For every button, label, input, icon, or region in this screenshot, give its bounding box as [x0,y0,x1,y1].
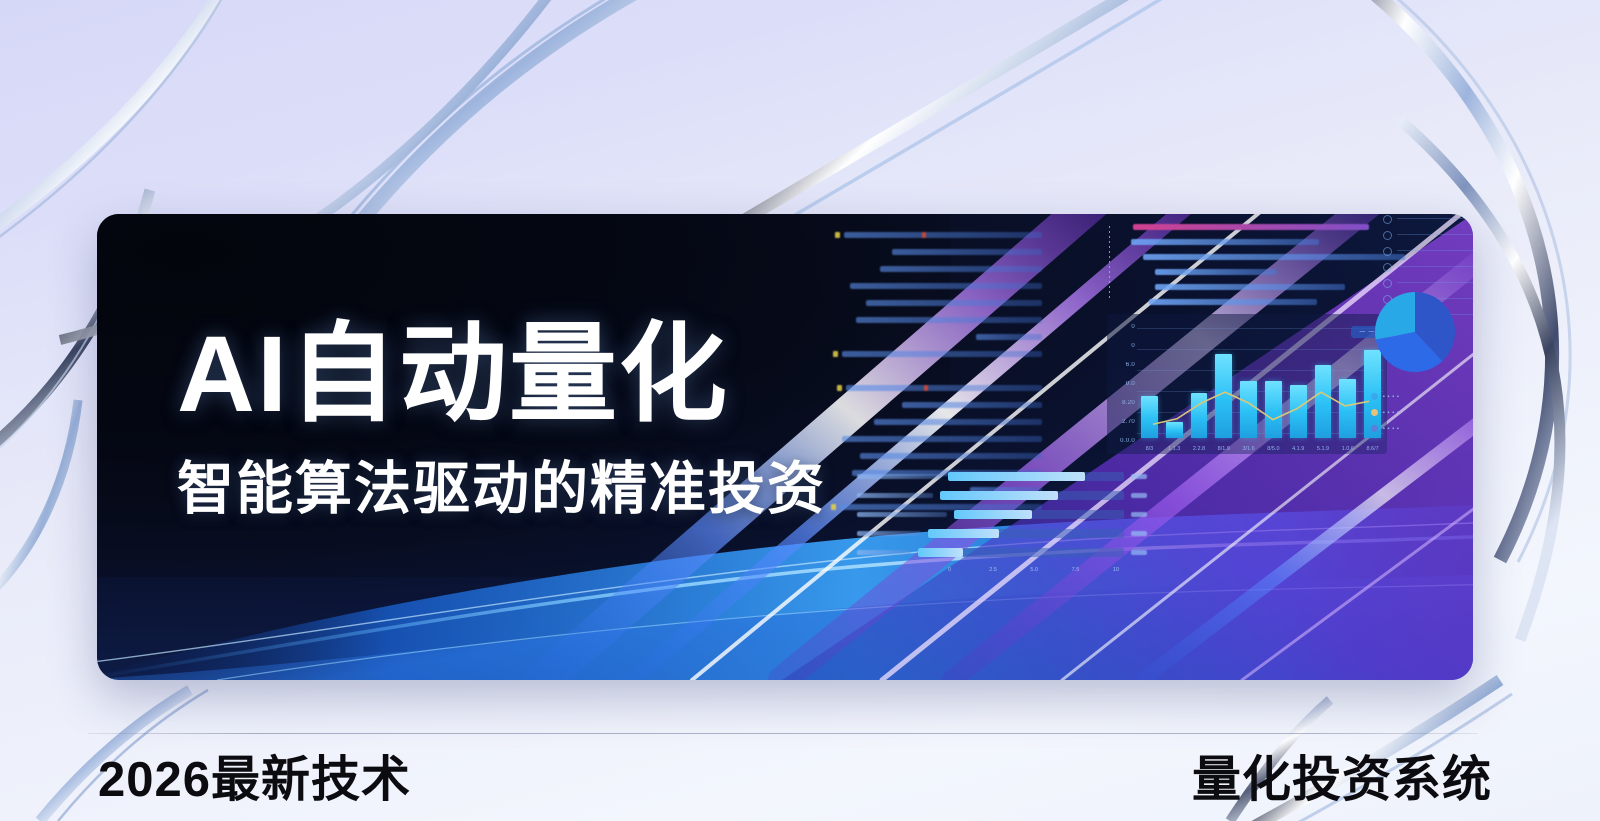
hbar-label [857,493,933,498]
hbar-track [948,472,1124,481]
hbar-axis-tick: 0 [948,567,982,573]
log-line [866,300,1042,306]
legend-item: ▪ ▪ ▪ ▪ [1371,393,1400,400]
footer-left-label: 2026最新技术 [98,744,411,816]
chart-y-axis: 006.00.08.202.700.0.0 [1109,314,1135,454]
hbar-value [1131,493,1147,498]
y-tick-label: 0.0.0 [1120,438,1135,444]
log-line [874,419,1042,425]
hbar-label [857,531,921,536]
legend-label: ▪ ▪ ▪ ▪ [1383,394,1400,400]
log-line [844,232,1042,238]
y-tick-label: 0.0 [1126,381,1135,387]
x-tick-label: 3/1.6 [1240,446,1257,452]
log-line [846,385,1042,391]
pie-chart [1369,286,1461,383]
hbar-track [928,529,1124,538]
side-panel-row [1397,250,1473,251]
pie-legend: ▪ ▪ ▪ ▪▪ ▪ ▪ ▪▪ ▪ ▪ ▪ [1371,393,1400,441]
code-line [1155,284,1345,290]
code-line [1155,269,1277,275]
code-line [1149,299,1317,305]
log-line [842,351,1042,357]
footer-right-label: 量化投资系统 [1192,744,1492,816]
x-tick-label: 8/5.0 [1265,446,1282,452]
hbar-value [1131,512,1147,517]
legend-label: ▪ ▪ ▪ ▪ [1383,426,1400,432]
hbar-fill [918,548,963,557]
hbar-axis-tick: 5.0 [1030,567,1064,573]
log-line [842,436,1042,442]
x-tick-label: 4.1.9 [1290,446,1307,452]
y-tick-label: 0 [1131,324,1135,330]
hbar-fill [928,529,999,538]
side-panel: ▪ ▪ ▪ ▪▪ ▪ ▪ ▪▪ ▪ ▪ ▪ [1397,218,1473,468]
x-tick-label: 8.6/7 [1364,446,1381,452]
hbar-axis-tick: 7.5 [1072,567,1106,573]
hbar-axis-tick: 10 [1113,567,1147,573]
hbar-axis: 02.55.07.510 [948,567,1147,573]
log-line [860,453,1042,459]
log-line [902,402,1042,408]
side-panel-row [1397,218,1473,219]
hbar-label [857,512,947,517]
side-panel-row [1397,234,1473,235]
hbar-fill [940,491,1058,500]
code-line [1131,239,1319,245]
footer: 2026最新技术 量化投资系统 [0,744,1600,821]
hbar-row [857,529,1147,538]
legend-color-dot [1371,409,1378,416]
log-line [976,334,1042,340]
side-panel-row [1397,282,1473,283]
log-line [856,317,1042,323]
x-tick-label: 2.2.8 [1191,446,1208,452]
pie-slice [1375,292,1415,340]
page-subtitle: 智能算法驱动的精准投资 [177,443,826,525]
hbar-track [918,548,1124,557]
y-tick-label: 6.0 [1126,362,1135,368]
legend-item: ▪ ▪ ▪ ▪ [1371,409,1400,416]
legend-color-dot [1371,393,1378,400]
hbar-track [954,510,1124,519]
hbar-label [857,474,941,479]
hbar-value [1131,531,1147,536]
legend-label: ▪ ▪ ▪ ▪ [1383,410,1400,416]
legend-color-dot [1371,425,1378,432]
hbar-fill [948,472,1085,481]
chart-x-axis: 8/31.1.32.2.88/1.93/1.68/5.04.1.95.1.91.… [1141,446,1381,452]
y-tick-label: 8.20 [1122,400,1135,406]
hbar-value [1131,474,1147,479]
hbar-label [857,550,911,555]
hbar-axis-tick: 2.5 [989,567,1023,573]
hero-card: AI自动量化 智能算法驱动的精准投资 006.00.08.202.700.0.0… [97,214,1473,680]
code-panel [1127,224,1397,314]
headline-block: AI自动量化 智能算法驱动的精准投资 [177,319,826,525]
hbar-row [857,510,1147,519]
log-line [892,249,1042,255]
x-tick-label: 5.1.9 [1315,446,1332,452]
code-guide-line [1109,226,1110,300]
x-tick-label: 1.0.6 [1339,446,1356,452]
code-line [1143,254,1405,260]
horizontal-bar-chart: 02.55.07.510 [857,472,1147,573]
hbar-fill [954,510,1032,519]
x-tick-label: 1.1.3 [1166,446,1183,452]
x-tick-label: 8/3 [1141,446,1158,452]
hbar-value [1131,550,1147,555]
page-title: AI自动量化 [177,319,826,429]
chart-trend-line [1141,328,1381,438]
code-line [1133,224,1369,230]
log-line [850,283,1042,289]
legend-item: ▪ ▪ ▪ ▪ [1371,425,1400,432]
side-panel-row [1397,266,1473,267]
x-tick-label: 8/1.9 [1215,446,1232,452]
y-tick-label: 2.70 [1122,419,1135,425]
hbar-row [857,472,1147,481]
dashboard-overlay: 006.00.08.202.700.0.0 8/31.1.32.2.88/1.9… [837,214,1473,680]
hbar-row [857,491,1147,500]
bar-chart-panel: 006.00.08.202.700.0.0 8/31.1.32.2.88/1.9… [1107,314,1387,454]
hbar-track [940,491,1124,500]
hbar-row [857,548,1147,557]
log-line [880,266,1042,272]
footer-divider [88,733,1478,734]
y-tick-label: 0 [1131,343,1135,349]
